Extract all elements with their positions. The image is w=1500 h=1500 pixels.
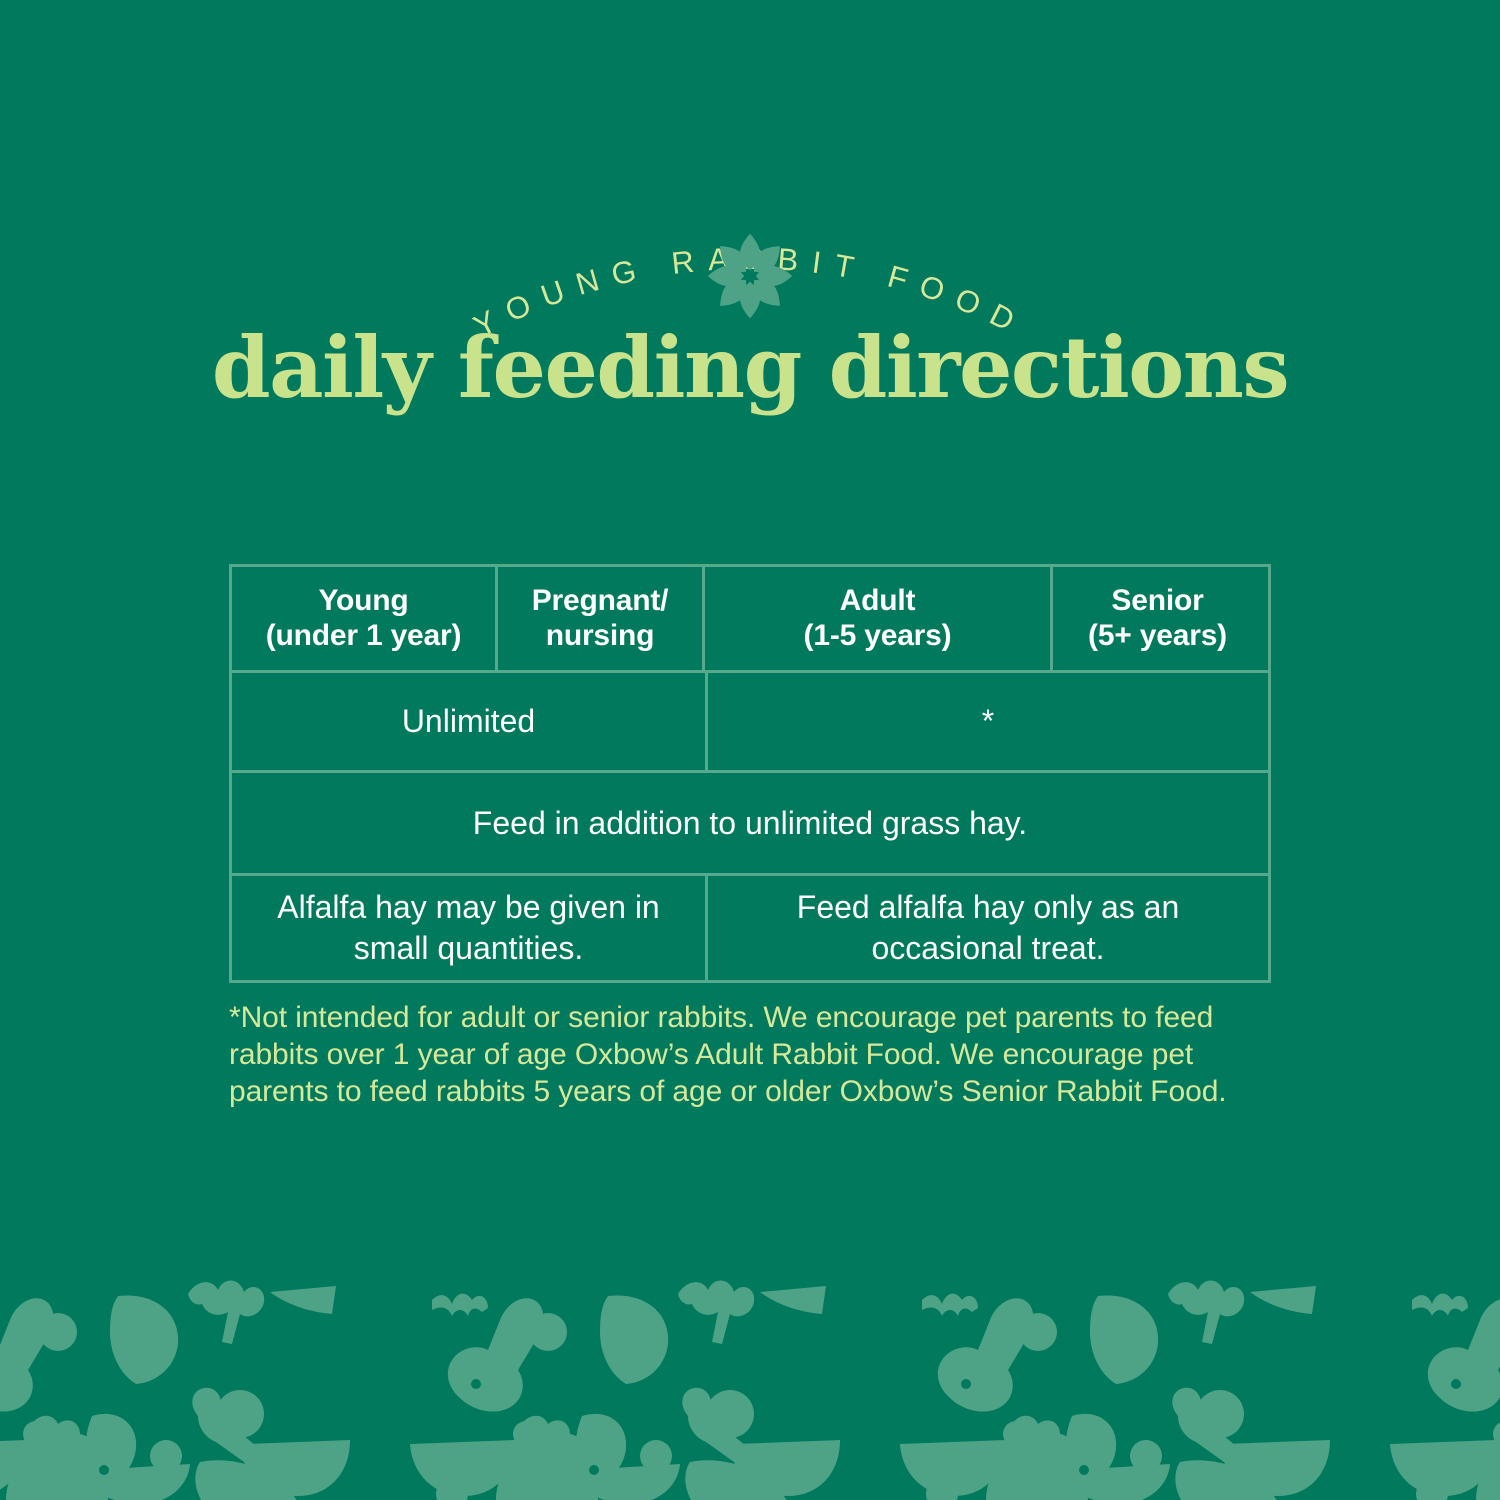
rosette-flower-icon [702, 228, 798, 324]
col-young-line2: (under 1 year) [266, 619, 462, 652]
col-preg-line1: Pregnant/ [532, 584, 669, 617]
footnote-text: *Not intended for adult or senior rabbit… [229, 1000, 1277, 1111]
column-header-senior: Senior (5+ years) [1050, 567, 1262, 670]
col-senior-line2: (5+ years) [1088, 619, 1227, 652]
column-header-young: Young (under 1 year) [232, 567, 495, 670]
cell-asterisk: * [705, 673, 1268, 770]
cell-alfalfa-adult: Feed alfalfa hay only as an occasional t… [705, 876, 1268, 980]
column-header-adult: Adult (1-5 years) [702, 567, 1050, 670]
col-senior-line1: Senior [1111, 584, 1203, 617]
col-preg-line2: nursing [546, 619, 655, 652]
table-row-alfalfa: Alfalfa hay may be given in small quanti… [232, 873, 1268, 980]
page-title: daily feeding directions [0, 326, 1500, 410]
table-row-amount: Unlimited * [232, 670, 1268, 770]
cell-grass-hay-note: Feed in addition to unlimited grass hay. [232, 773, 1268, 873]
feeding-table: Young (under 1 year) Pregnant/ nursing A… [229, 564, 1271, 983]
feeding-directions-panel: YOUNG RABBIT FOOD daily feeding directi [0, 0, 1500, 1500]
cell-alfalfa-young: Alfalfa hay may be given in small quanti… [232, 876, 705, 980]
botanical-rabbit-pattern-band [0, 1248, 1500, 1500]
column-header-pregnant-nursing: Pregnant/ nursing [495, 567, 702, 670]
col-young-line1: Young [318, 584, 408, 617]
pattern-tile [0, 1280, 1500, 1500]
table-header-row: Young (under 1 year) Pregnant/ nursing A… [232, 567, 1268, 670]
table-row-hay-note: Feed in addition to unlimited grass hay. [232, 770, 1268, 873]
cell-unlimited: Unlimited [232, 673, 705, 770]
col-adult-line1: Adult [840, 584, 916, 617]
col-adult-line2: (1-5 years) [804, 619, 952, 652]
